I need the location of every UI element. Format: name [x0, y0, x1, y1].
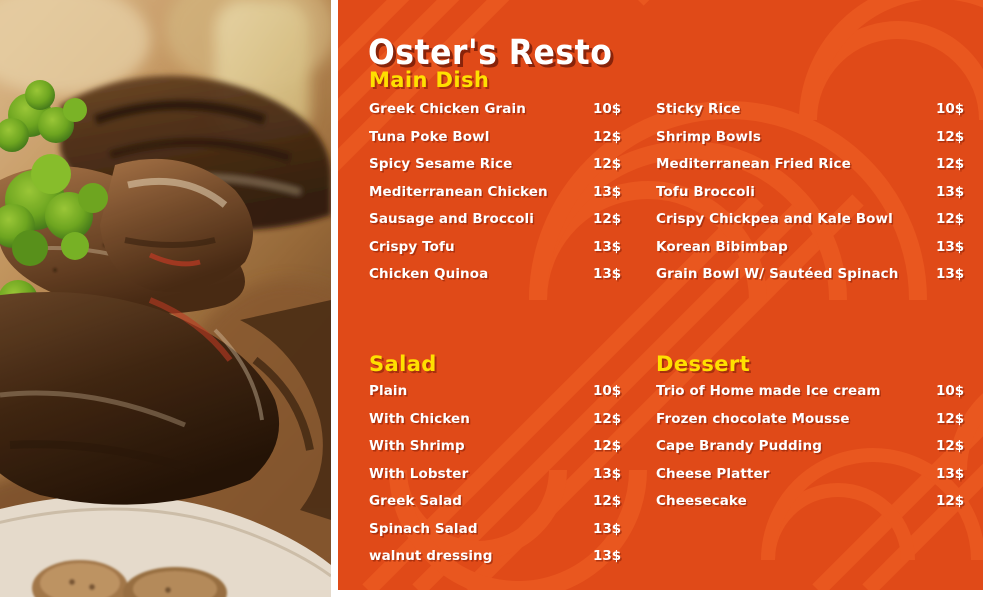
menu-row[interactable]: Spicy Sesame Rice 12$ — [369, 156, 654, 184]
menu-row[interactable]: Cheesecake 12$ — [656, 493, 976, 521]
item-price: 13$ — [593, 266, 621, 282]
menu-row[interactable]: With Shrimp 12$ — [369, 438, 654, 466]
item-list-main-dish-left: Greek Chicken Grain 10$ Tuna Poke Bowl 1… — [369, 101, 654, 294]
item-list-salad: Plain 10$ With Chicken 12$ With Shrimp 1… — [369, 383, 654, 576]
item-price: 12$ — [593, 493, 621, 509]
item-name: Frozen chocolate Mousse — [656, 411, 850, 427]
item-name: With Chicken — [369, 411, 470, 427]
menu-row[interactable]: Frozen chocolate Mousse 12$ — [656, 411, 976, 439]
item-price: 13$ — [936, 466, 964, 482]
item-price: 12$ — [936, 493, 964, 509]
section-heading-salad: Salad — [369, 352, 437, 376]
menu-row[interactable]: Trio of Home made Ice cream 10$ — [656, 383, 976, 411]
item-name: Shrimp Bowls — [656, 129, 761, 145]
item-name: Cape Brandy Pudding — [656, 438, 822, 454]
item-name: Sticky Rice — [656, 101, 741, 117]
item-price: 10$ — [593, 383, 621, 399]
menu-row[interactable]: Mediterranean Fried Rice 12$ — [656, 156, 976, 184]
item-price: 13$ — [593, 548, 621, 564]
item-price: 10$ — [593, 101, 621, 117]
section-heading-dessert: Dessert — [656, 352, 750, 376]
item-price: 12$ — [593, 211, 621, 227]
menu-row[interactable]: With Chicken 12$ — [369, 411, 654, 439]
item-price: 12$ — [593, 129, 621, 145]
item-name: With Lobster — [369, 466, 468, 482]
item-name: Crispy Tofu — [369, 239, 455, 255]
item-price: 12$ — [936, 211, 964, 227]
section-heading-main-dish: Main Dish — [369, 68, 489, 92]
item-price: 12$ — [936, 411, 964, 427]
item-price: 13$ — [936, 239, 964, 255]
item-price: 10$ — [936, 383, 964, 399]
item-price: 13$ — [593, 239, 621, 255]
menu-row[interactable]: Crispy Tofu 13$ — [369, 239, 654, 267]
item-list-main-dish-right: Sticky Rice 10$ Shrimp Bowls 12$ Mediter… — [656, 101, 976, 294]
menu-row[interactable]: With Lobster 13$ — [369, 466, 654, 494]
menu-poster: Oster's Resto Main Dish Greek Chicken Gr… — [0, 0, 983, 597]
item-price: 13$ — [593, 184, 621, 200]
item-price: 13$ — [593, 521, 621, 537]
menu-row[interactable]: Cape Brandy Pudding 12$ — [656, 438, 976, 466]
item-name: Grain Bowl W/ Sautéed Spinach — [656, 266, 899, 282]
menu-row[interactable]: Spinach Salad 13$ — [369, 521, 654, 549]
item-name: Tuna Poke Bowl — [369, 129, 489, 145]
menu-row[interactable]: Sticky Rice 10$ — [656, 101, 976, 129]
food-photo-image — [0, 0, 331, 597]
item-price: 12$ — [593, 411, 621, 427]
menu-row[interactable]: Greek Chicken Grain 10$ — [369, 101, 654, 129]
item-name: Mediterranean Fried Rice — [656, 156, 851, 172]
item-name: Mediterranean Chicken — [369, 184, 548, 200]
item-name: Cheese Platter — [656, 466, 769, 482]
menu-row[interactable]: Plain 10$ — [369, 383, 654, 411]
item-name: Trio of Home made Ice cream — [656, 383, 881, 399]
menu-row[interactable]: Chicken Quinoa 13$ — [369, 266, 654, 294]
item-name: Cheesecake — [656, 493, 747, 509]
item-price: 10$ — [936, 101, 964, 117]
item-name: Crispy Chickpea and Kale Bowl — [656, 211, 893, 227]
item-price: 12$ — [936, 129, 964, 145]
menu-row[interactable]: Cheese Platter 13$ — [656, 466, 976, 494]
menu-row[interactable]: Grain Bowl W/ Sautéed Spinach 13$ — [656, 266, 976, 294]
item-price: 13$ — [936, 266, 964, 282]
item-name: Plain — [369, 383, 407, 399]
item-list-dessert: Trio of Home made Ice cream 10$ Frozen c… — [656, 383, 976, 521]
menu-row[interactable]: Sausage and Broccoli 12$ — [369, 211, 654, 239]
item-price: 13$ — [936, 184, 964, 200]
item-name: Tofu Broccoli — [656, 184, 755, 200]
item-name: Spinach Salad — [369, 521, 478, 537]
food-photo — [0, 0, 331, 597]
menu-row[interactable]: Tofu Broccoli 13$ — [656, 184, 976, 212]
item-name: walnut dressing — [369, 548, 493, 564]
item-name: Greek Salad — [369, 493, 462, 509]
item-name: With Shrimp — [369, 438, 465, 454]
menu-row[interactable]: Crispy Chickpea and Kale Bowl 12$ — [656, 211, 976, 239]
menu-row[interactable]: walnut dressing 13$ — [369, 548, 654, 576]
menu-panel: Oster's Resto Main Dish Greek Chicken Gr… — [338, 0, 983, 590]
item-price: 13$ — [593, 466, 621, 482]
item-name: Sausage and Broccoli — [369, 211, 534, 227]
menu-row[interactable]: Tuna Poke Bowl 12$ — [369, 129, 654, 157]
item-price: 12$ — [936, 438, 964, 454]
item-name: Greek Chicken Grain — [369, 101, 526, 117]
item-name: Korean Bibimbap — [656, 239, 788, 255]
item-price: 12$ — [593, 438, 621, 454]
item-name: Spicy Sesame Rice — [369, 156, 512, 172]
menu-row[interactable]: Shrimp Bowls 12$ — [656, 129, 976, 157]
menu-row[interactable]: Mediterranean Chicken 13$ — [369, 184, 654, 212]
item-price: 12$ — [593, 156, 621, 172]
menu-row[interactable]: Korean Bibimbap 13$ — [656, 239, 976, 267]
item-price: 12$ — [936, 156, 964, 172]
menu-row[interactable]: Greek Salad 12$ — [369, 493, 654, 521]
item-name: Chicken Quinoa — [369, 266, 488, 282]
